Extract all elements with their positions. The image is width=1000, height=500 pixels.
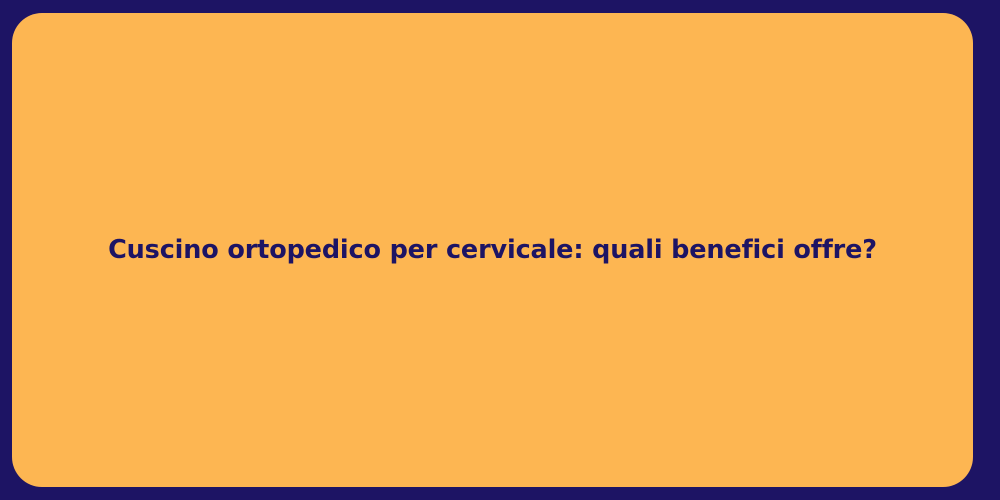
headline-card: Cuscino ortopedico per cervicale: quali …: [12, 13, 973, 487]
page-title: Cuscino ortopedico per cervicale: quali …: [12, 235, 973, 265]
banner-backdrop: Cuscino ortopedico per cervicale: quali …: [0, 0, 1000, 500]
